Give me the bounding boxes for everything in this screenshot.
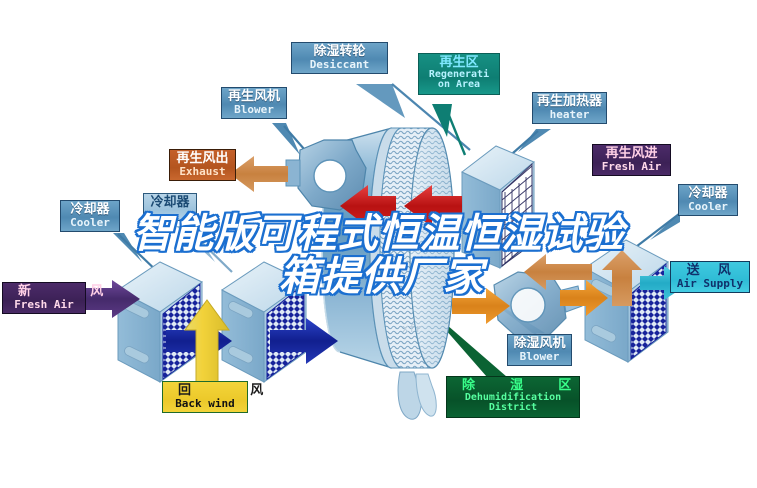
label-cooler-right[interactable]: 冷却器 Cooler (678, 184, 738, 216)
label-cooler-left-1-cn: 冷却器 (65, 203, 115, 217)
label-regeneration-fresh-air-en: Fresh Air (597, 161, 666, 173)
label-dehumidification-district-en-2: District (451, 403, 575, 414)
label-regeneration-area[interactable]: 再生区 Regenerati on Area (418, 53, 500, 95)
cooling-coil-unit-left-2 (222, 262, 306, 382)
label-desiccant-wheel-cn: 除湿转轮 (296, 45, 383, 59)
label-cooler-left-1-en: Cooler (65, 217, 115, 229)
label-cooler-right-cn: 冷却器 (683, 187, 733, 201)
label-dehumidification-district-cn: 除 湿 区 (451, 379, 575, 393)
label-regeneration-heater-en: heater (537, 109, 602, 121)
label-dehumidification-blower-cn: 除湿风机 (512, 337, 567, 351)
label-back-wind-cn: 回 风 (167, 384, 243, 398)
label-back-wind[interactable]: 回 风 Back wind (162, 381, 248, 413)
label-fresh-air-inlet-en: Fresh Air (7, 299, 81, 311)
label-dehumidification-blower-en: Blower (512, 351, 567, 363)
label-regeneration-exhaust-en: Exhaust (174, 166, 231, 178)
faint-brand-mark: xfr (402, 322, 422, 335)
label-regeneration-heater-cn: 再生加热器 (537, 95, 602, 109)
arrow-regen-exhaust (230, 156, 288, 192)
label-regeneration-blower-en: Blower (226, 104, 282, 116)
label-fresh-air-inlet[interactable]: 新 风 Fresh Air (2, 282, 86, 314)
label-regeneration-area-en-2: on Area (423, 80, 495, 91)
label-regeneration-heater[interactable]: 再生加热器 heater (532, 92, 607, 124)
label-regeneration-exhaust-cn: 再生风出 (174, 152, 231, 166)
regeneration-heater-block (462, 146, 534, 268)
label-regeneration-blower-cn: 再生风机 (226, 90, 282, 104)
label-regeneration-fresh-air-cn: 再生风进 (597, 147, 666, 161)
label-cooler-left-2-cn: 冷却器 (148, 196, 192, 210)
label-air-supply-cn: 送 风 (675, 264, 745, 278)
label-back-wind-en: Back wind (167, 398, 243, 410)
label-regeneration-exhaust[interactable]: 再生风出 Exhaust (169, 149, 236, 181)
label-desiccant-wheel[interactable]: 除湿转轮 Desiccant (291, 42, 388, 74)
label-dehumidification-district[interactable]: 除 湿 区 Dehumidification District (446, 376, 580, 418)
label-regeneration-fresh-air[interactable]: 再生风进 Fresh Air (592, 144, 671, 176)
label-cooler-left-2[interactable]: 冷却器 (143, 193, 197, 221)
label-dehumidification-blower[interactable]: 除湿风机 Blower (507, 334, 572, 366)
label-air-supply-en: Air Supply (675, 278, 745, 290)
label-desiccant-wheel-en: Desiccant (296, 59, 383, 71)
label-regeneration-area-cn: 再生区 (423, 56, 495, 70)
label-cooler-left-1[interactable]: 冷却器 Cooler (60, 200, 120, 232)
dehumidifier-schematic-diagram: xfr 除湿转轮 Desiccant 再生风机 Blower 再生风出 Exha… (0, 0, 757, 488)
label-fresh-air-inlet-cn: 新 风 (7, 285, 81, 299)
cooling-coil-unit-left-1 (118, 262, 202, 382)
label-regeneration-blower[interactable]: 再生风机 Blower (221, 87, 287, 119)
label-air-supply[interactable]: 送 风 Air Supply (670, 261, 750, 293)
label-cooler-right-en: Cooler (683, 201, 733, 213)
